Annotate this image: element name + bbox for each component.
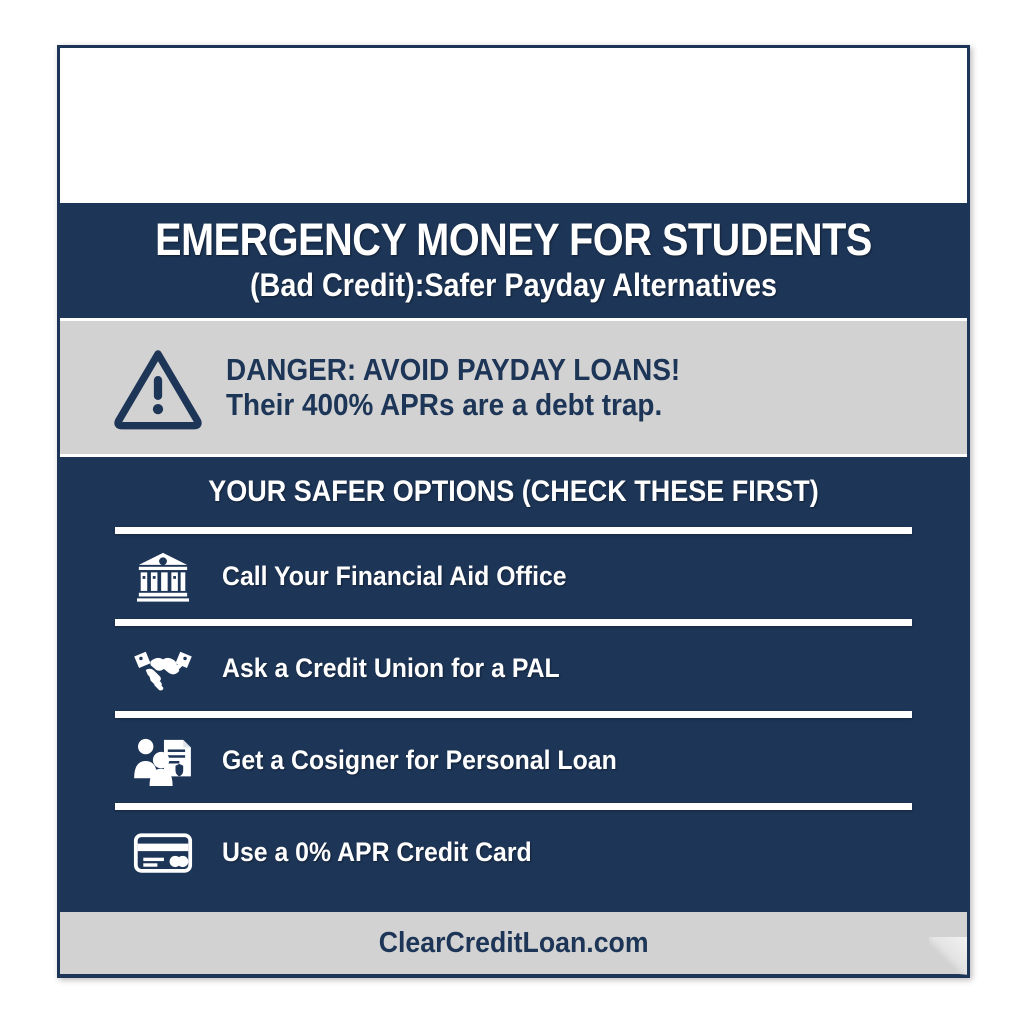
list-item-label: Use a 0% APR Credit Card [222,837,532,868]
list-item-label: Call Your Financial Aid Office [222,561,567,592]
safer-options-section: YOUR SAFER OPTIONS (CHECK THESE FIRST) [60,457,967,901]
list-item[interactable]: Use a 0% APR Credit Card [60,810,967,895]
list-item-label: Get a Cosigner for Personal Loan [222,745,617,776]
list-item-label: Ask a Credit Union for a PAL [222,653,560,684]
website-url[interactable]: ClearCreditLoan.com [379,927,649,960]
warning-band-wrapper: DANGER: AVOID PAYDAY LOANS! Their 400% A… [60,318,967,457]
section-heading: YOUR SAFER OPTIONS (CHECK THESE FIRST) [105,475,921,509]
list-item[interactable]: Call Your Financial Aid Office [60,534,967,619]
list-item[interactable]: Get a Cosigner for Personal Loan [60,718,967,803]
divider [115,803,912,810]
handshake-icon [132,643,194,695]
danger-warning-band: DANGER: AVOID PAYDAY LOANS! Their 400% A… [60,321,967,454]
cosigner-document-icon [132,735,194,787]
bank-building-icon [132,551,194,603]
warning-triangle-icon [112,342,204,434]
list-item[interactable]: Ask a Credit Union for a PAL [60,626,967,711]
page-title: EMERGENCY MONEY FOR STUDENTS [132,217,895,263]
divider [115,527,912,534]
credit-card-icon [132,827,194,879]
infographic-card: EMERGENCY MONEY FOR STUDENTS (Bad Credit… [57,45,970,978]
divider [115,619,912,626]
footer-band: ClearCreditLoan.com [60,909,967,977]
warning-headline: DANGER: AVOID PAYDAY LOANS! [226,353,680,388]
warning-subtext: Their 400% APRs are a debt trap. [226,388,680,423]
header-band: EMERGENCY MONEY FOR STUDENTS (Bad Credit… [60,203,967,318]
footer-wrapper: ClearCreditLoan.com [60,901,967,978]
page-subtitle: (Bad Credit):Safer Payday Alternatives [123,269,903,303]
top-blank-band [60,48,967,203]
warning-text-block: DANGER: AVOID PAYDAY LOANS! Their 400% A… [226,353,680,422]
divider [115,711,912,718]
